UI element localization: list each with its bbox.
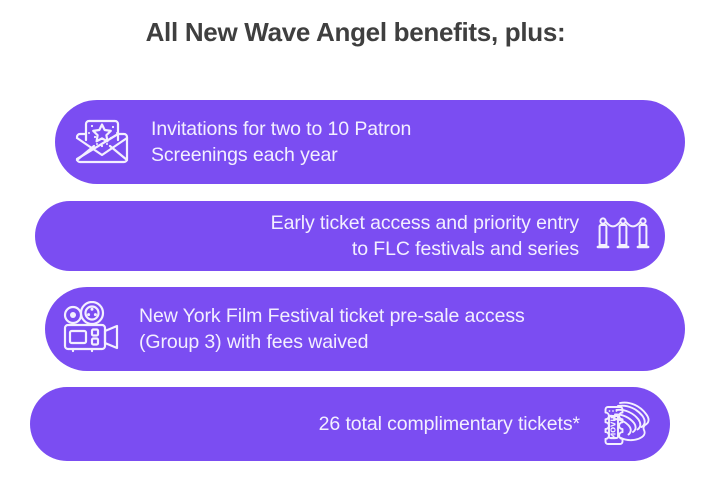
benefit-text: New York Film Festival ticket pre-sale a… xyxy=(139,303,525,355)
benefits-graphic: All New Wave Angel benefits, plus: xyxy=(0,0,711,500)
benefit-text: Early ticket access and priority entry t… xyxy=(271,210,579,262)
benefit-row-early-ticket-access: Early ticket access and priority entry t… xyxy=(35,201,665,271)
movie-tickets-fan-icon: MOVIE xyxy=(594,395,656,453)
benefit-row-complimentary-tickets: 26 total complimentary tickets* xyxy=(30,387,670,461)
benefit-row-patron-screenings: Invitations for two to 10 Patron Screeni… xyxy=(55,100,685,184)
benefit-text: 26 total complimentary tickets* xyxy=(319,411,580,437)
movie-camera-icon xyxy=(59,301,123,357)
envelope-star-icon xyxy=(71,113,133,171)
benefit-text: Invitations for two to 10 Patron Screeni… xyxy=(151,116,411,168)
page-title: All New Wave Angel benefits, plus: xyxy=(0,17,711,48)
svg-text:MOVIE: MOVIE xyxy=(610,414,618,440)
stanchion-rope-icon xyxy=(595,213,651,259)
benefit-row-nyff-presale: New York Film Festival ticket pre-sale a… xyxy=(45,287,685,371)
